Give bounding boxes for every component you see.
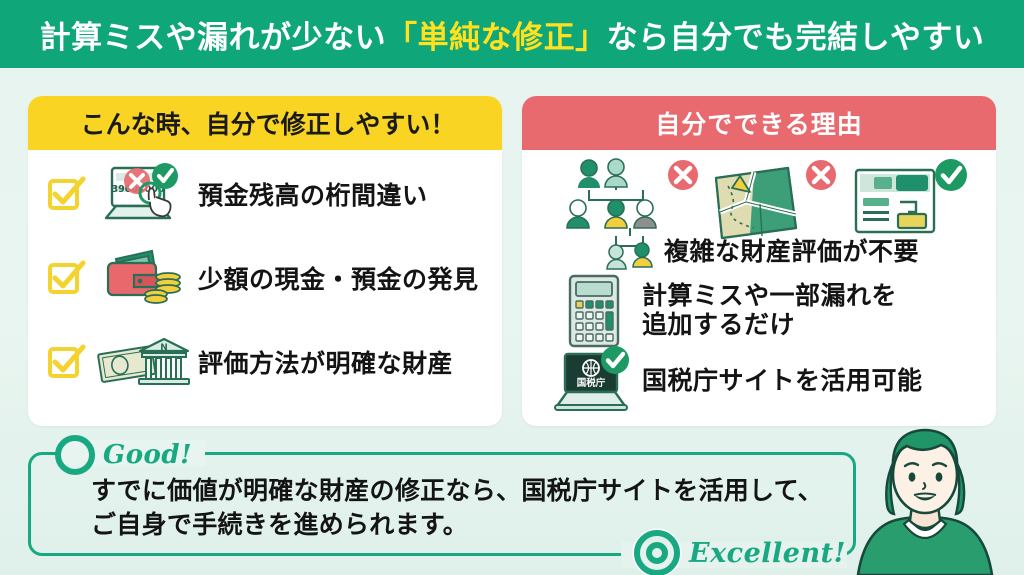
banknote-bank-icon: N <box>94 331 190 393</box>
wallet-coins-icon <box>94 247 190 309</box>
list-item[interactable]: 39000000 預金残高の桁間違い <box>46 154 490 234</box>
right-panel-title: 自分でできる理由 <box>655 105 863 141</box>
laptop-nta-label: 国税庁 <box>577 377 606 389</box>
good-badge: Good! <box>51 431 192 479</box>
top-icon-strip <box>558 156 978 248</box>
left-panel-header: こんな時、自分で修正しやすい！ <box>28 96 502 150</box>
list-item-label-line1: 複雑な財産評価が不要 <box>664 238 919 266</box>
header-bracket-close: 」 <box>575 12 607 57</box>
cross-badge-icon <box>804 158 838 192</box>
list-item-label-line2: 追加するだけ <box>642 311 897 341</box>
list-item[interactable]: 計算ミスや一部漏れを 追加するだけ <box>552 272 897 350</box>
checkbox-icon <box>46 258 88 298</box>
map-icon <box>710 162 802 246</box>
list-item[interactable]: 複雑な財産評価が不要 <box>658 238 919 268</box>
laptop-nta-icon: 国税庁 <box>552 348 636 416</box>
right-panel-body: 複雑な財産評価が不要 <box>522 150 996 426</box>
list-item[interactable]: N 評価方法が明確な財産 <box>46 322 490 402</box>
list-item-label: 国税庁サイトを活用可能 <box>642 367 923 397</box>
smiling-woman-illustration <box>850 423 1000 575</box>
list-item-label: 評価方法が明確な財産 <box>198 344 453 380</box>
good-badge-label: Good! <box>103 440 192 470</box>
svg-text:N: N <box>160 343 168 353</box>
web-form-icon <box>852 166 944 238</box>
callout-box: Good! すでに価値が明確な財産の修正なら、国税庁サイトを活用して、 ご自身で… <box>28 452 856 556</box>
ring-icon <box>51 431 99 479</box>
list-item-label: 預金残高の桁間違い <box>198 176 428 212</box>
list-item-label: 複雑な財産評価が不要 <box>664 238 919 268</box>
header-text-after: なら自分でも完結しやすい <box>607 12 985 57</box>
list-item-label: 少額の現金・預金の発見 <box>198 260 479 296</box>
list-item-label-line1: 計算ミスや一部漏れを <box>642 282 897 310</box>
laptop-balance-icon: 39000000 <box>94 156 190 232</box>
cross-badge-icon <box>666 158 700 192</box>
excellent-badge: Excellent! <box>631 527 846 575</box>
header-band: 計算ミスや漏れが少ない「単純な修正」なら自分でも完結しやすい <box>0 0 1024 68</box>
header-highlight: 単純な修正 <box>418 12 576 57</box>
left-panel-body: 39000000 預金残高の桁間違い <box>28 150 502 426</box>
double-ring-icon <box>631 527 683 575</box>
left-panel-title: こんな時、自分で修正しやすい！ <box>75 105 456 141</box>
checkbox-icon <box>46 174 88 214</box>
checkbox-icon <box>46 342 88 382</box>
right-panel-header: 自分でできる理由 <box>522 96 996 150</box>
list-item-label-line1: 国税庁サイトを活用可能 <box>642 367 923 395</box>
panels-container: こんな時、自分で修正しやすい！ 39000000 <box>28 96 996 426</box>
header-bracket-open: 「 <box>386 12 418 57</box>
left-panel: こんな時、自分で修正しやすい！ 39000000 <box>28 96 502 426</box>
callout-line1: すでに価値が明確な財産の修正なら、国税庁サイトを活用して、 <box>91 477 823 505</box>
page-title: 計算ミスや漏れが少ない「単純な修正」なら自分でも完結しやすい <box>40 12 985 57</box>
list-item[interactable]: 国税庁 国税庁サイトを活用可能 <box>552 348 923 416</box>
excellent-badge-label: Excellent! <box>689 538 846 569</box>
right-panel: 自分でできる理由 <box>522 96 996 426</box>
list-item-label: 計算ミスや一部漏れを 追加するだけ <box>642 282 897 341</box>
check-badge-icon <box>932 156 970 194</box>
list-item[interactable]: 少額の現金・預金の発見 <box>46 238 490 318</box>
header-text-before: 計算ミスや漏れが少ない <box>40 12 387 57</box>
calculator-icon <box>552 272 636 350</box>
